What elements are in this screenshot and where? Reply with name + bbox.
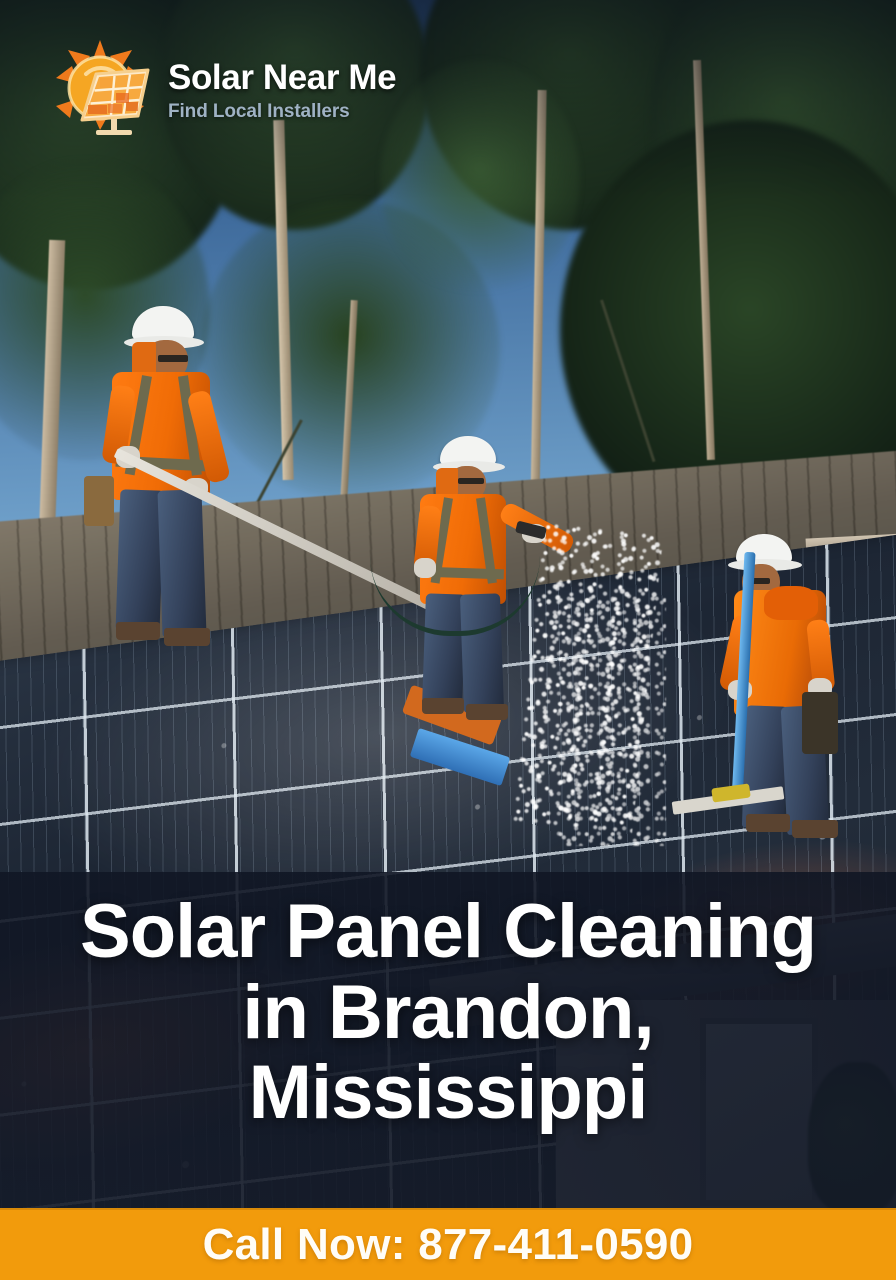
water-spray — [556, 596, 666, 846]
work-boot — [792, 820, 838, 838]
tool-pouch — [84, 476, 114, 526]
work-boot — [116, 622, 160, 640]
worker-jeans — [116, 489, 165, 630]
page-title: Solar Panel Cleaning in Brandon, Mississ… — [0, 892, 896, 1134]
work-boot — [466, 704, 508, 720]
tree-canopy — [380, 60, 580, 300]
work-boot — [422, 698, 464, 714]
sunglasses-icon — [458, 478, 484, 484]
headline-line-1: Solar Panel Cleaning — [18, 892, 878, 973]
brand-name: Solar Near Me — [168, 60, 396, 95]
hoodie-hood — [764, 586, 818, 620]
call-now-label: Call Now: 877-411-0590 — [203, 1220, 694, 1270]
sunglasses-icon — [158, 355, 188, 362]
headline-line-2: in Brandon, — [18, 973, 878, 1054]
sun-solar-panel-icon — [44, 38, 156, 138]
poster: Solar Near Me Find Local Installers Sola… — [0, 0, 896, 1280]
brand-logo-text: Solar Near Me Find Local Installers — [168, 56, 396, 121]
brand-tagline: Find Local Installers — [168, 102, 396, 121]
work-boot — [164, 628, 210, 646]
call-now-bar[interactable]: Call Now: 877-411-0590 — [0, 1208, 896, 1280]
brand-logo[interactable]: Solar Near Me Find Local Installers — [44, 38, 396, 138]
work-boot — [746, 814, 790, 832]
headline-line-3: Mississippi — [18, 1053, 878, 1134]
tool-belt — [802, 692, 838, 754]
worker-jeans — [157, 489, 206, 636]
